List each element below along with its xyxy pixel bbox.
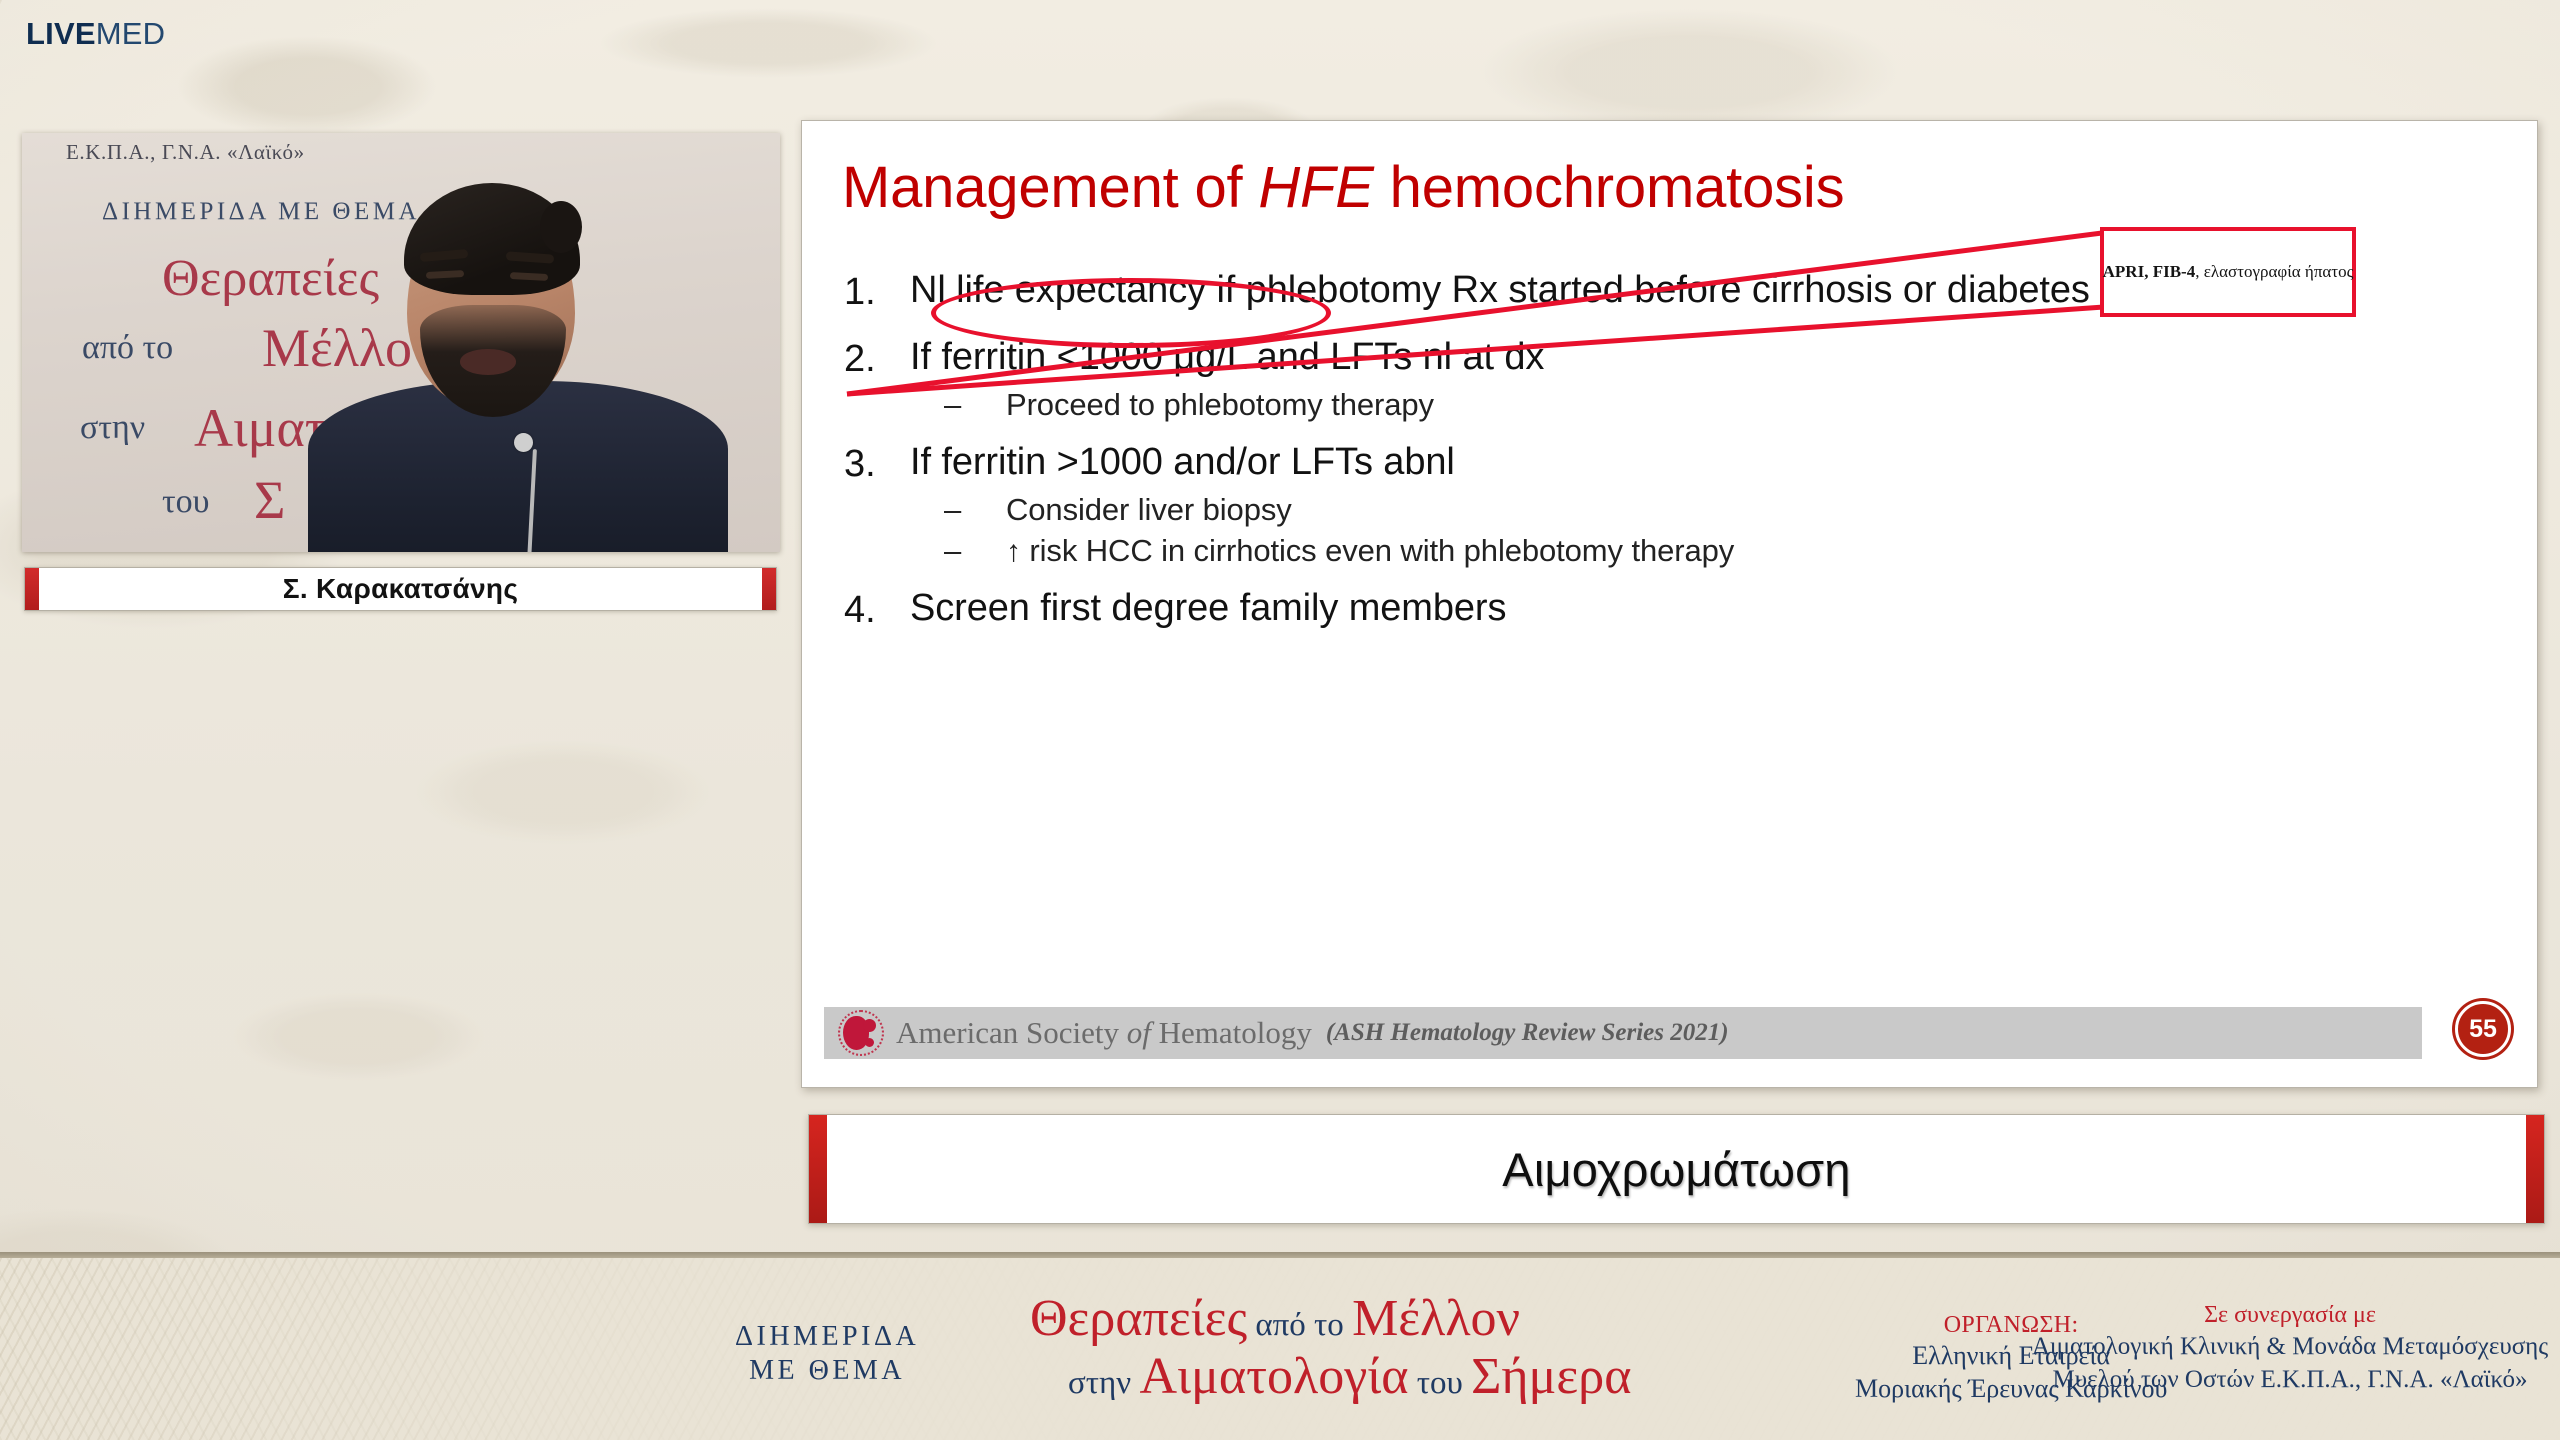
video-banner-line1: Θεραπείες [162,253,379,305]
list-item-number: 2. [832,338,910,381]
logo-primary-text: LIVE [26,16,96,51]
ash-name-part-b: Hematology [1151,1015,1312,1050]
list-subitem-text: Proceed to phlebotomy therapy [1006,388,1434,422]
footer-coop-line1: Αιματολογική Κλινική & Μονάδα Μεταμόσχευ… [2030,1331,2550,1364]
speaker-video-panel[interactable]: Ε.Κ.Π.Α., Γ.Ν.Α. «Λαϊκό» ΔΙΗΜΕΡΙΔΑ ΜΕ ΘΕ… [22,133,780,552]
list-subitem-dash: – [944,534,1006,568]
list-subitem: – Proceed to phlebotomy therapy [944,388,2472,422]
ash-series-label: (ASH Hematology Review Series 2021) [1326,1019,1729,1047]
video-banner-kicker: ΔΙΗΜΕΡΙΔΑ ΜΕ ΘΕΜΑ [102,199,420,224]
slide-number-badge: 55 [2455,1001,2511,1057]
annotation-callout-text: APRI, FIB-4, ελαστογραφία ήπατος [2103,262,2354,282]
annotation-ellipse-highlight [931,278,1331,348]
list-subitem-text: risk HCC in cirrhotics even with phlebot… [1021,533,1734,568]
presentation-slide[interactable]: Management of HFE hemochromatosis 1. Nl … [801,120,2538,1088]
list-subitem-dash: – [944,388,1006,422]
ash-society-name: American Society of Hematology [896,1015,1312,1051]
footer-coop-heading: Σε συνεργασία με [2030,1300,2550,1331]
logo-secondary-text: MED [96,16,166,51]
speaker-nameplate: Σ. Καρακατσάνης [24,567,777,611]
footer-title-line1: Θεραπείες από το Μέλλον [1030,1290,1631,1348]
list-subitem: – ↑ risk HCC in cirrhotics even with phl… [944,534,2472,568]
livemed-logo[interactable]: LIVEMED [26,18,165,49]
video-banner-line4-big: Σ [254,473,285,527]
footer-cooperation: Σε συνεργασία με Αιματολογική Κλινική & … [2030,1300,2550,1396]
footer-event-kicker: ΔΙΗΜΕΡΙΔΑ ΜΕ ΘΕΜΑ [735,1320,919,1388]
list-item-number: 4. [832,589,910,632]
footer-event-title: Θεραπείες από το Μέλλον στην Αιματολογία… [1030,1290,1631,1406]
ash-logo-dot-large [863,1019,876,1032]
annotation-callout-box: APRI, FIB-4, ελαστογραφία ήπατος [2100,227,2356,317]
annotation-callout-rest: , ελαστογραφία ήπατος [2195,262,2353,281]
increase-arrow-icon: ↑ [1006,535,1021,568]
list-subitem-text-wrapper: ↑ risk HCC in cirrhotics even with phleb… [1006,534,1734,568]
footer-kicker-line2: ΜΕ ΘΕΜΑ [749,1355,905,1386]
footer-coop-line2: Μυελού των Οστών Ε.Κ.Π.Α., Γ.Ν.Α. «Λαϊκό… [2030,1364,2550,1397]
video-banner-affiliation: Ε.Κ.Π.Α., Γ.Ν.Α. «Λαϊκό» [66,142,305,163]
speaker-name-label: Σ. Καρακατσάνης [283,573,518,605]
list-item-number: 1. [832,271,910,314]
ash-name-part-a: American Society [896,1015,1127,1050]
footer-title-hematology: Αιματολογία [1139,1348,1408,1405]
video-banner-line2-small: από το [82,331,173,365]
speaker-mouth [460,349,516,375]
speaker-video-frame: Ε.Κ.Π.Α., Γ.Ν.Α. «Λαϊκό» ΔΙΗΜΕΡΙΔΑ ΜΕ ΘΕ… [22,133,780,552]
slide-title: Management of HFE hemochromatosis [842,154,1844,221]
footer-kicker-line1: ΔΙΗΜΕΡΙΔΑ [735,1321,919,1352]
list-item-text: If ferritin <1000 μg/L and LFTs nl at dx [910,338,1544,381]
footer-title-therapies: Θεραπείες [1030,1290,1247,1347]
slide-title-prefix: Management of [842,155,1258,220]
footer-title-future: Μέλλον [1352,1290,1520,1347]
list-item-text: If ferritin >1000 and/or LFTs abnl [910,443,1455,486]
list-item: 4. Screen first degree family members [832,589,2472,632]
footer-title-in-the: στην [1068,1365,1139,1401]
annotation-callout-bold: APRI, FIB-4 [2103,262,2196,281]
list-subitem-dash: – [944,493,1006,527]
footer-title-of-the: του [1408,1365,1471,1401]
footer-title-today: Σήμερα [1471,1348,1631,1405]
list-item-number: 3. [832,443,910,486]
session-title-bar: Αιμοχρωμάτωση [808,1114,2545,1224]
list-subitem-text: Consider liver biopsy [1006,493,1292,527]
ash-logo-icon [838,1010,884,1056]
list-subitem: – Consider liver biopsy [944,493,2472,527]
ash-name-of: of [1127,1015,1151,1050]
slide-title-gene: HFE [1258,155,1373,220]
video-banner-line3-small: στην [80,411,145,445]
list-item: 3. If ferritin >1000 and/or LFTs abnl [832,443,2472,486]
slide-title-suffix: hemochromatosis [1374,155,1845,220]
footer-title-from-the: από το [1247,1307,1352,1343]
video-banner-line4-small: του [162,485,210,519]
ash-logo-dot-small [865,1038,874,1047]
list-item-text: Screen first degree family members [910,589,1506,632]
microphone-icon [514,433,533,452]
session-title-label: Αιμοχρωμάτωση [1502,1142,1850,1197]
slide-attribution-bar: American Society of Hematology (ASH Hema… [824,1007,2422,1059]
footer-title-line2: στην Αιματολογία του Σήμερα [1068,1348,1631,1406]
speaker-hair-bun [540,201,582,253]
top-bar: LIVEMED [0,0,2560,56]
